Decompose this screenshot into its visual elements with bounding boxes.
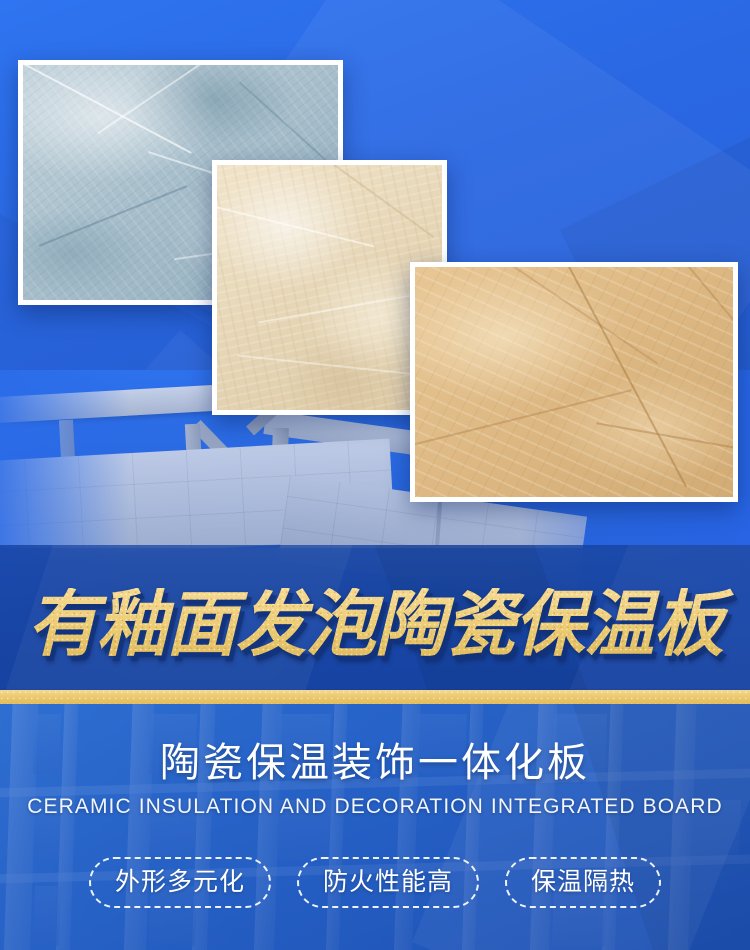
tile-texture [415, 267, 733, 497]
subtitle-english: CERAMIC INSULATION AND DECORATION INTEGR… [0, 795, 750, 819]
feature-pill-thermal-insulation[interactable]: 保温隔热 [505, 857, 661, 908]
feature-pill-list: 外形多元化 防火性能高 保温隔热 [0, 857, 750, 908]
feature-pill-shape-diversity[interactable]: 外形多元化 [89, 857, 271, 908]
product-banner: 有釉面发泡陶瓷保温板 [0, 0, 750, 950]
feature-pill-fire-resistance[interactable]: 防火性能高 [297, 857, 479, 908]
sample-tile-tan-marble[interactable] [410, 262, 738, 502]
gold-divider [0, 690, 750, 704]
page-title: 有釉面发泡陶瓷保温板 [8, 588, 743, 660]
subtitle-chinese: 陶瓷保温装饰一体化板 [0, 740, 750, 786]
